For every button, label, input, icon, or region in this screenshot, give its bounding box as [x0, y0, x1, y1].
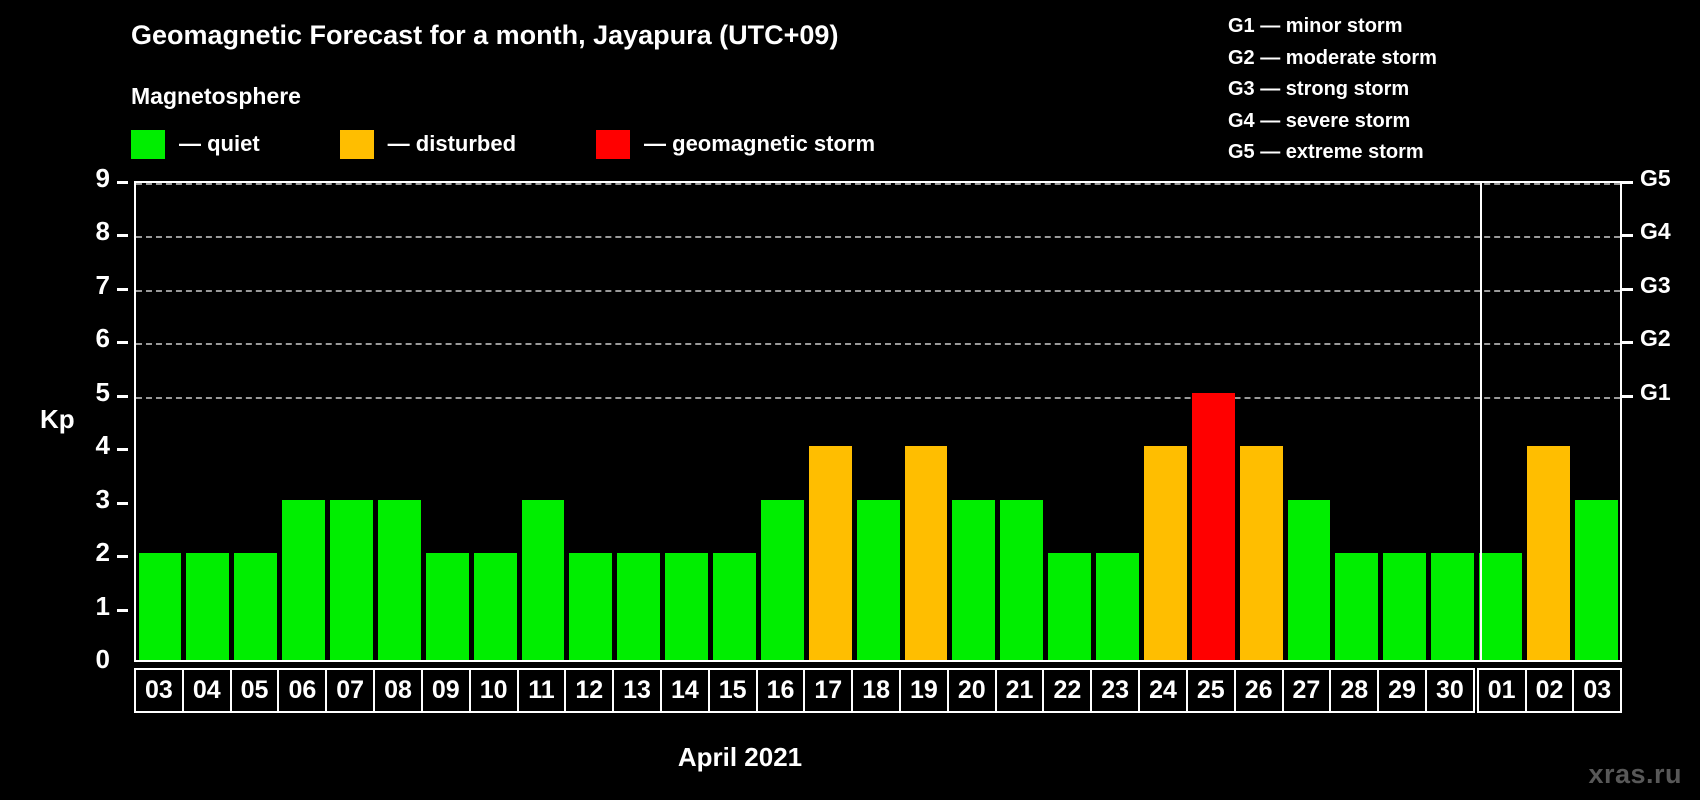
bar-cell	[758, 183, 806, 660]
g-tick-G5: G5	[1640, 165, 1671, 192]
bar-cell	[1381, 183, 1429, 660]
date-label-05[interactable]: 05	[230, 668, 280, 713]
storm-scale-row-5: G5 — extreme storm	[1228, 137, 1437, 169]
y-tick-dash-9	[117, 181, 128, 184]
date-label-15[interactable]: 15	[708, 668, 758, 713]
legend-label-disturbed: — disturbed	[388, 131, 516, 157]
bar-day-06	[282, 500, 325, 660]
legend-label-storm: — geomagnetic storm	[644, 131, 875, 157]
bar-day-30	[1431, 553, 1474, 660]
bar-cell	[615, 183, 663, 660]
bar-cell	[184, 183, 232, 660]
bar-day-13	[617, 553, 660, 660]
bar-cell	[1046, 183, 1094, 660]
legend-swatch-disturbed	[340, 130, 374, 159]
date-label-26[interactable]: 26	[1234, 668, 1284, 713]
bar-day-11	[522, 500, 565, 660]
y-tick-5: 5	[70, 377, 110, 408]
y-tick-dash-8	[117, 234, 128, 237]
bar-day-02	[1527, 446, 1570, 660]
bar-cell	[806, 183, 854, 660]
bar-day-07	[330, 500, 373, 660]
date-label-04[interactable]: 04	[182, 668, 232, 713]
date-label-28[interactable]: 28	[1329, 668, 1379, 713]
bar-day-21	[1000, 500, 1043, 660]
legend-item-disturbed: — disturbed	[340, 130, 516, 159]
date-label-02[interactable]: 02	[1525, 668, 1575, 713]
legend-label-quiet: — quiet	[179, 131, 260, 157]
bar-cell	[232, 183, 280, 660]
bar-day-22	[1048, 553, 1091, 660]
date-label-19[interactable]: 19	[899, 668, 949, 713]
watermark: xras.ru	[1588, 759, 1682, 790]
bar-day-20	[952, 500, 995, 660]
date-label-14[interactable]: 14	[660, 668, 710, 713]
legend-item-storm: — geomagnetic storm	[596, 130, 875, 159]
date-label-21[interactable]: 21	[995, 668, 1045, 713]
y-tick-dash-7	[117, 288, 128, 291]
y-tick-dash-6	[117, 341, 128, 344]
date-label-01[interactable]: 01	[1477, 668, 1527, 713]
bar-day-18	[857, 500, 900, 660]
legend-swatch-quiet	[131, 130, 165, 159]
date-label-27[interactable]: 27	[1282, 668, 1332, 713]
bar-day-28	[1335, 553, 1378, 660]
bar-cell	[136, 183, 184, 660]
bar-day-27	[1288, 500, 1331, 660]
x-axis-dates: 0304050607080910111213141516171819202122…	[134, 668, 1622, 713]
chart-canvas: Geomagnetic Forecast for a month, Jayapu…	[0, 0, 1700, 800]
page-title: Geomagnetic Forecast for a month, Jayapu…	[131, 20, 838, 51]
y-tick-7: 7	[70, 270, 110, 301]
bar-day-25	[1192, 393, 1235, 660]
bar-cell	[375, 183, 423, 660]
g-tick-G2: G2	[1640, 325, 1671, 352]
storm-scale-row-1: G1 — minor storm	[1228, 11, 1437, 43]
bar-cell	[1572, 183, 1620, 660]
g-tick-dash-G2	[1622, 341, 1633, 344]
y-tick-0: 0	[70, 644, 110, 675]
g-tick-dash-G4	[1622, 234, 1633, 237]
bar-day-26	[1240, 446, 1283, 660]
date-label-06[interactable]: 06	[277, 668, 327, 713]
bar-day-03	[1575, 500, 1618, 660]
storm-scale-legend: G1 — minor stormG2 — moderate stormG3 — …	[1228, 11, 1437, 169]
date-label-11[interactable]: 11	[517, 668, 567, 713]
y-axis-title: Kp	[40, 404, 75, 435]
bar-cell	[1189, 183, 1237, 660]
y-tick-6: 6	[70, 323, 110, 354]
magnetosphere-legend: — quiet— disturbed— geomagnetic storm	[131, 129, 875, 159]
y-tick-8: 8	[70, 216, 110, 247]
storm-scale-row-2: G2 — moderate storm	[1228, 43, 1437, 75]
y-tick-3: 3	[70, 484, 110, 515]
date-label-24[interactable]: 24	[1138, 668, 1188, 713]
g-tick-G3: G3	[1640, 272, 1671, 299]
storm-scale-row-4: G4 — severe storm	[1228, 106, 1437, 138]
y-tick-dash-4	[117, 448, 128, 451]
date-label-08[interactable]: 08	[373, 668, 423, 713]
legend-swatch-storm	[596, 130, 630, 159]
y-tick-1: 1	[70, 591, 110, 622]
y-tick-9: 9	[70, 163, 110, 194]
bar-day-01	[1479, 553, 1522, 660]
bar-day-17	[809, 446, 852, 660]
bar-day-09	[426, 553, 469, 660]
y-tick-2: 2	[70, 537, 110, 568]
bar-cell	[280, 183, 328, 660]
bar-day-08	[378, 500, 421, 660]
bar-cell	[471, 183, 519, 660]
bar-cell	[854, 183, 902, 660]
y-tick-dash-2	[117, 555, 128, 558]
y-tick-dash-3	[117, 502, 128, 505]
bar-cell	[328, 183, 376, 660]
y-tick-4: 4	[70, 430, 110, 461]
bar-day-05	[234, 553, 277, 660]
y-tick-dash-5	[117, 395, 128, 398]
date-label-13[interactable]: 13	[612, 668, 662, 713]
bar-day-29	[1383, 553, 1426, 660]
g-tick-G4: G4	[1640, 218, 1671, 245]
bar-cell	[1429, 183, 1477, 660]
bar-day-19	[905, 446, 948, 660]
bar-day-23	[1096, 553, 1139, 660]
bar-day-14	[665, 553, 708, 660]
bar-cell	[519, 183, 567, 660]
bar-day-03	[139, 553, 182, 660]
bar-day-15	[713, 553, 756, 660]
plot-area	[134, 181, 1622, 662]
bar-cell	[711, 183, 759, 660]
bar-day-12	[569, 553, 612, 660]
date-label-29[interactable]: 29	[1377, 668, 1427, 713]
x-axis-label: April 2021	[0, 742, 1700, 773]
bar-cell	[1285, 183, 1333, 660]
legend-item-quiet: — quiet	[131, 130, 260, 159]
g-tick-dash-G1	[1622, 395, 1633, 398]
bar-day-04	[186, 553, 229, 660]
date-label-09[interactable]: 09	[421, 668, 471, 713]
date-label-22[interactable]: 22	[1042, 668, 1092, 713]
bar-cell	[1237, 183, 1285, 660]
date-label-23[interactable]: 23	[1090, 668, 1140, 713]
date-label-25[interactable]: 25	[1186, 668, 1236, 713]
bar-cell	[567, 183, 615, 660]
date-label-10[interactable]: 10	[469, 668, 519, 713]
bar-day-10	[474, 553, 517, 660]
bar-cell	[663, 183, 711, 660]
bar-day-24	[1144, 446, 1187, 660]
date-label-18[interactable]: 18	[851, 668, 901, 713]
bar-cell	[950, 183, 998, 660]
g-tick-G1: G1	[1640, 379, 1671, 406]
bar-cell	[902, 183, 950, 660]
bar-cell	[1333, 183, 1381, 660]
date-label-03[interactable]: 03	[1572, 668, 1622, 713]
bar-cell	[1477, 183, 1525, 660]
date-label-16[interactable]: 16	[756, 668, 806, 713]
y-tick-dash-1	[117, 609, 128, 612]
x-axis-label-text: April 2021	[678, 742, 802, 772]
g-tick-dash-G3	[1622, 288, 1633, 291]
date-label-03[interactable]: 03	[134, 668, 184, 713]
bar-day-16	[761, 500, 804, 660]
date-label-30[interactable]: 30	[1425, 668, 1475, 713]
date-label-07[interactable]: 07	[325, 668, 375, 713]
date-label-17[interactable]: 17	[803, 668, 853, 713]
magnetosphere-heading: Magnetosphere	[131, 83, 301, 110]
bar-series	[136, 183, 1620, 660]
date-label-12[interactable]: 12	[564, 668, 614, 713]
date-label-20[interactable]: 20	[947, 668, 997, 713]
storm-scale-row-3: G3 — strong storm	[1228, 74, 1437, 106]
bar-cell	[1141, 183, 1189, 660]
bar-cell	[1524, 183, 1572, 660]
bar-cell	[423, 183, 471, 660]
bar-cell	[998, 183, 1046, 660]
bar-cell	[1094, 183, 1142, 660]
g-tick-dash-G5	[1622, 181, 1633, 184]
forecast-separator	[1480, 183, 1482, 660]
